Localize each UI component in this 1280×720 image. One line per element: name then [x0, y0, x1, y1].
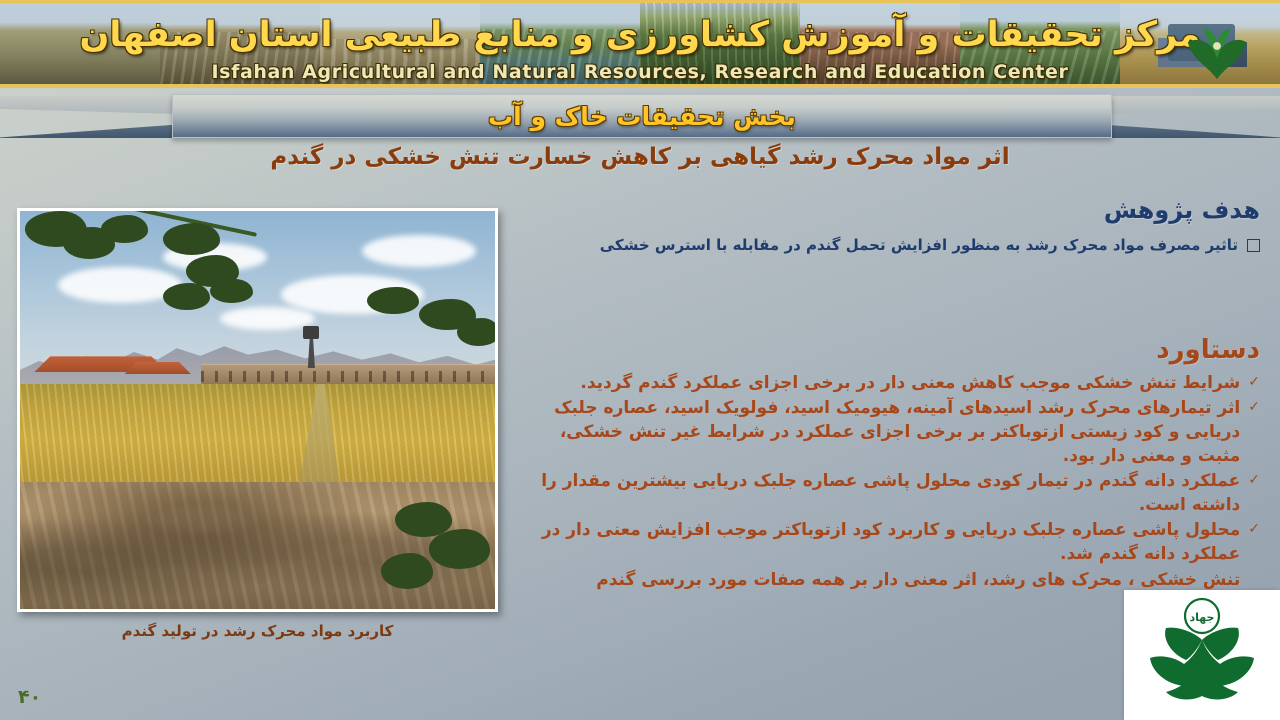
photo-water-tower-tank: [303, 326, 319, 339]
ribbon-center-plate: بخش تحقیقات خاک و آب: [172, 94, 1112, 138]
results-heading: دستاورد: [520, 335, 1260, 365]
goal-list: تاثیر مصرف مواد محرک رشد به منظور افزایش…: [520, 234, 1260, 257]
check-bullet-icon: ✓: [1248, 373, 1260, 393]
header-title-english: Isfahan Agricultural and Natural Resourc…: [0, 61, 1280, 83]
content-column: هدف پژوهش تاثیر مصرف مواد محرک رشد به من…: [520, 196, 1260, 593]
square-bullet-icon: [1247, 239, 1260, 252]
result-item: ✓ تنش خشکی ، محرک های رشد، اثر معنی دار …: [520, 568, 1260, 592]
result-item-text: عملکرد دانه گندم در تیمار کودی محلول پاش…: [520, 469, 1240, 517]
result-item: ✓ شرایط تنش خشکی موجب کاهش معنی دار در ب…: [520, 371, 1260, 395]
result-item: ✓ اثر تیمارهای محرک رشد اسیدهای آمینه، ه…: [520, 396, 1260, 468]
photo-leaf-right: [367, 287, 419, 315]
result-item: ✓ عملکرد دانه گندم در تیمار کودی محلول پ…: [520, 469, 1260, 517]
result-item: ✓ محلول پاشی عصاره جلبک دریایی و کاربرد …: [520, 518, 1260, 566]
goal-item-text: تاثیر مصرف مواد محرک رشد به منظور افزایش…: [600, 234, 1238, 257]
jihad-keshavarzi-logo: جهاد: [1124, 590, 1280, 720]
department-label: بخش تحقیقات خاک و آب: [488, 102, 796, 131]
result-item-text: شرایط تنش خشکی موجب کاهش معنی دار در برخ…: [520, 371, 1240, 395]
page-title: اثر مواد محرک رشد گیاهی بر کاهش خسارت تن…: [0, 144, 1280, 170]
photo-building-wall: [201, 364, 496, 386]
header-band: مرکز تحقیقات و آموزش کشاورزی و منابع طبی…: [0, 0, 1280, 88]
results-list: ✓ شرایط تنش خشکی موجب کاهش معنی دار در ب…: [520, 371, 1260, 592]
svg-text:جهاد: جهاد: [1190, 611, 1215, 624]
goal-item: تاثیر مصرف مواد محرک رشد به منظور افزایش…: [520, 234, 1260, 257]
header-title-persian: مرکز تحقیقات و آموزش کشاورزی و منابع طبی…: [0, 15, 1280, 55]
photo-caption: کاربرد مواد محرک رشد در تولید گندم: [17, 622, 498, 640]
photo-bare-soil-foreground: [20, 482, 495, 609]
check-bullet-icon: ✓: [1248, 471, 1260, 491]
result-item-text: محلول پاشی عصاره جلبک دریایی و کاربرد کو…: [520, 518, 1240, 566]
wheat-field-photo: [17, 208, 498, 612]
check-bullet-icon: ✓: [1248, 520, 1260, 540]
section-ribbon: بخش تحقیقات خاک و آب: [0, 96, 1280, 144]
result-item-text: اثر تیمارهای محرک رشد اسیدهای آمینه، هیو…: [520, 396, 1240, 468]
check-bullet-icon: ✓: [1248, 398, 1260, 418]
isfahan-center-leaf-logo-icon: [1178, 11, 1256, 83]
result-item-text: تنش خشکی ، محرک های رشد، اثر معنی دار بر…: [520, 568, 1240, 592]
goal-heading: هدف پژوهش: [520, 196, 1260, 224]
page-number: ۴۰: [18, 686, 41, 708]
jihad-keshavarzi-logo-icon: جهاد: [1132, 596, 1272, 714]
